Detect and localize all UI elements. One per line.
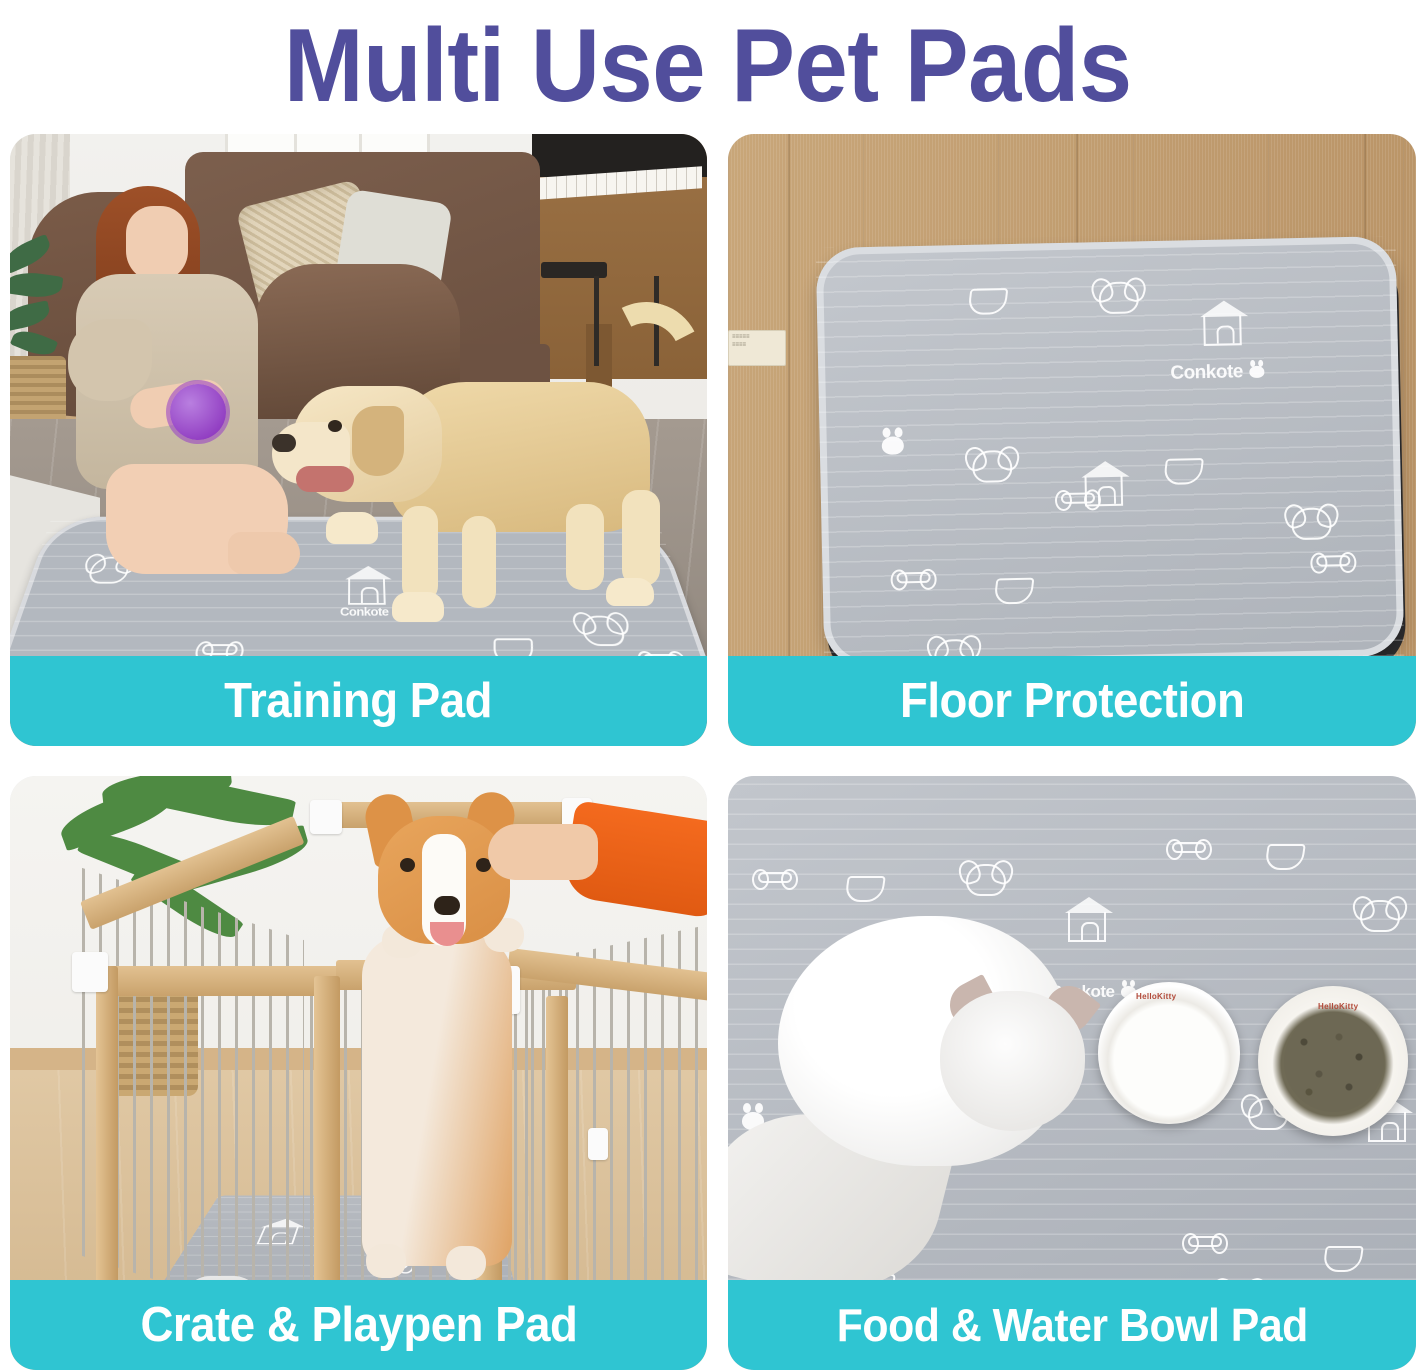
milk-bowl	[1098, 982, 1240, 1124]
floor-seam	[788, 134, 790, 746]
gray-pet-pad: Conkote	[816, 236, 1405, 668]
girl-foot	[228, 532, 300, 574]
panel-training-pad[interactable]: Conkote	[10, 134, 707, 746]
brand-name: Conkote	[1170, 361, 1243, 385]
page-title: Multi Use Pet Pads	[0, 0, 1416, 132]
panel-floor-protection[interactable]: ≡≡≡≡≡≡≡≡≡ C	[728, 134, 1416, 746]
scene-floor-protection: ≡≡≡≡≡≡≡≡≡ C	[728, 134, 1416, 746]
human-hand	[488, 824, 598, 880]
panel-crate-playpen-pad[interactable]: Crate & Playpen Pad	[10, 776, 707, 1370]
playpen-post	[546, 996, 568, 1322]
corgi-paw	[446, 1246, 486, 1280]
scene-training-pad: Conkote	[10, 134, 707, 746]
corgi-body	[362, 936, 512, 1266]
potted-plant	[10, 229, 74, 359]
kibble	[1284, 1012, 1384, 1112]
quilt-waves	[816, 236, 1405, 668]
brand-logo: Conkote	[1170, 361, 1264, 385]
playpen-post	[96, 966, 118, 1296]
purple-spiky-ball	[170, 384, 226, 440]
playpen-connector	[310, 800, 342, 834]
dog-leg	[402, 506, 438, 602]
dog-nose	[272, 434, 296, 452]
dog-paw	[606, 578, 654, 606]
dog-paw	[392, 592, 444, 622]
caption-bar-crate-playpen: Crate & Playpen Pad	[10, 1280, 707, 1370]
dog-mouth	[296, 466, 354, 492]
caption-text: Food & Water Bowl Pad	[836, 1302, 1307, 1348]
corgi-paw	[366, 1244, 406, 1278]
corgi-eye	[400, 858, 415, 872]
playpen-latch	[588, 1128, 608, 1160]
dog-leg	[566, 504, 604, 590]
caption-text: Crate & Playpen Pad	[140, 1301, 577, 1350]
bowl-rim-label: HelloKitty	[1318, 1002, 1358, 1011]
playpen-rail	[108, 966, 340, 996]
caption-bar-food-water-bowl: Food & Water Bowl Pad	[728, 1280, 1416, 1370]
dog-eye	[328, 420, 342, 432]
paw-icon	[1249, 366, 1264, 378]
corgi-nose	[434, 896, 460, 915]
panel-grid: Conkote	[0, 134, 1416, 1370]
bowl-rim-label: HelloKitty	[1136, 992, 1176, 1001]
caption-bar-training-pad: Training Pad	[10, 656, 707, 746]
wicker-basket	[10, 356, 66, 428]
dog-leg	[622, 490, 660, 586]
panel-food-water-bowl-pad[interactable]: Conkote Conkote HelloKitty HelloKitty Fo…	[728, 776, 1416, 1370]
girl-sleeve	[68, 319, 152, 401]
cat-head	[940, 991, 1085, 1131]
caption-text: Floor Protection	[900, 677, 1244, 726]
care-tag: ≡≡≡≡≡≡≡≡≡	[728, 330, 786, 366]
brand-name: Conkote	[340, 605, 389, 619]
dog-ear	[352, 406, 404, 476]
dog-leg	[462, 516, 496, 608]
playpen-connector	[72, 952, 108, 992]
girl-face	[126, 206, 188, 282]
page-title-text: Multi Use Pet Pads	[284, 14, 1132, 118]
caption-bar-floor-protection: Floor Protection	[728, 656, 1416, 746]
caption-text: Training Pad	[225, 677, 493, 726]
dog-paw	[326, 512, 378, 544]
